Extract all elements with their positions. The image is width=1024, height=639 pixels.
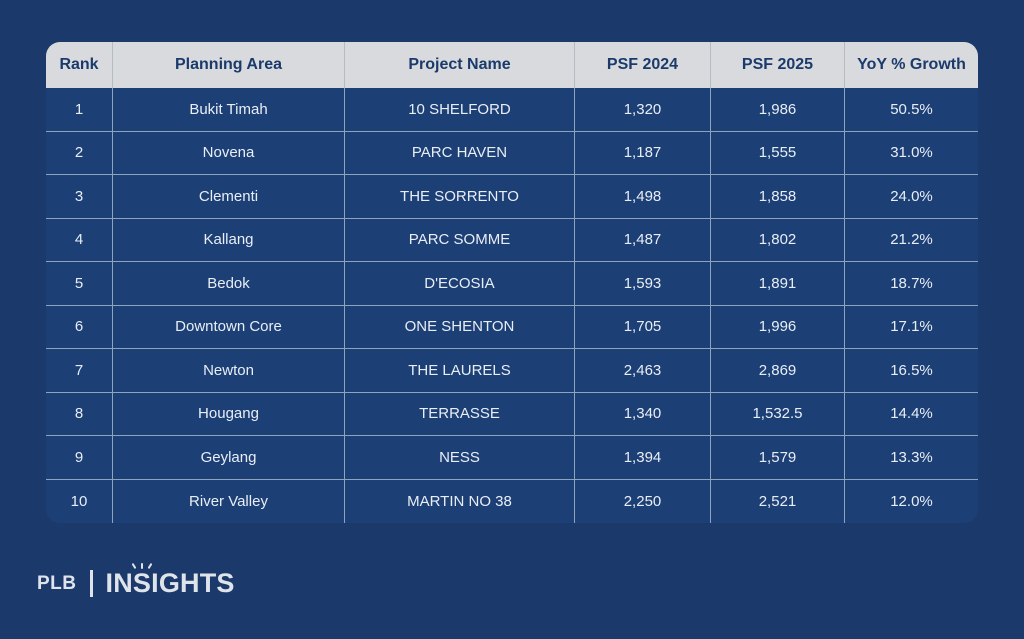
cell-psf25: 1,986: [711, 88, 845, 132]
cell-psf25: 1,996: [711, 306, 845, 350]
cell-area: Geylang: [113, 436, 345, 480]
cell-yoy: 14.4%: [845, 393, 978, 437]
table-row[interactable]: 6Downtown CoreONE SHENTON1,7051,99617.1%: [46, 306, 978, 350]
cell-yoy: 24.0%: [845, 175, 978, 219]
cell-area: Novena: [113, 132, 345, 176]
cell-proj: PARC HAVEN: [345, 132, 575, 176]
cell-rank: 9: [46, 436, 113, 480]
cell-psf25: 1,532.5: [711, 393, 845, 437]
cell-psf24: 1,340: [575, 393, 711, 437]
cell-proj: THE LAURELS: [345, 349, 575, 393]
cell-psf25: 2,521: [711, 480, 845, 524]
cell-psf25: 2,869: [711, 349, 845, 393]
column-header-yoy-growth[interactable]: YoY % Growth: [845, 42, 978, 88]
column-header-rank[interactable]: Rank: [46, 42, 113, 88]
rankings-table: Rank Planning Area Project Name PSF 2024…: [46, 42, 978, 523]
cell-rank: 2: [46, 132, 113, 176]
cell-proj: MARTIN NO 38: [345, 480, 575, 524]
cell-proj: D'ECOSIA: [345, 262, 575, 306]
brand-insights-bulb-letter: S: [133, 568, 151, 598]
cell-psf24: 2,463: [575, 349, 711, 393]
cell-rank: 5: [46, 262, 113, 306]
cell-psf24: 1,593: [575, 262, 711, 306]
brand-insights-part-1: IN: [106, 568, 133, 599]
brand-insights-label: IN S IGHTS: [106, 568, 235, 599]
column-header-planning-area[interactable]: Planning Area: [113, 42, 345, 88]
cell-psf24: 1,320: [575, 88, 711, 132]
column-header-psf-2025[interactable]: PSF 2025: [711, 42, 845, 88]
table-row[interactable]: 3ClementiTHE SORRENTO1,4981,85824.0%: [46, 175, 978, 219]
cell-psf24: 2,250: [575, 480, 711, 524]
cell-rank: 4: [46, 219, 113, 263]
cell-proj: TERRASSE: [345, 393, 575, 437]
table-header: Rank Planning Area Project Name PSF 2024…: [46, 42, 978, 88]
cell-area: Bedok: [113, 262, 345, 306]
cell-proj: 10 SHELFORD: [345, 88, 575, 132]
cell-proj: THE SORRENTO: [345, 175, 575, 219]
cell-area: Newton: [113, 349, 345, 393]
cell-psf25: 1,891: [711, 262, 845, 306]
table-row[interactable]: 9GeylangNESS1,3941,57913.3%: [46, 436, 978, 480]
cell-psf25: 1,579: [711, 436, 845, 480]
cell-area: Kallang: [113, 219, 345, 263]
brand-divider: [90, 570, 93, 597]
table-header-row: Rank Planning Area Project Name PSF 2024…: [46, 42, 978, 88]
cell-yoy: 18.7%: [845, 262, 978, 306]
cell-proj: NESS: [345, 436, 575, 480]
cell-yoy: 50.5%: [845, 88, 978, 132]
table-row[interactable]: 2NovenaPARC HAVEN1,1871,55531.0%: [46, 132, 978, 176]
table-row[interactable]: 4KallangPARC SOMME1,4871,80221.2%: [46, 219, 978, 263]
cell-psf25: 1,858: [711, 175, 845, 219]
cell-yoy: 12.0%: [845, 480, 978, 524]
table-row[interactable]: 8HougangTERRASSE1,3401,532.514.4%: [46, 393, 978, 437]
cell-rank: 7: [46, 349, 113, 393]
cell-rank: 3: [46, 175, 113, 219]
table-body: 1Bukit Timah10 SHELFORD1,3201,98650.5%2N…: [46, 88, 978, 523]
table-row[interactable]: 5BedokD'ECOSIA1,5931,89118.7%: [46, 262, 978, 306]
cell-area: Hougang: [113, 393, 345, 437]
cell-yoy: 16.5%: [845, 349, 978, 393]
cell-area: Downtown Core: [113, 306, 345, 350]
table-row[interactable]: 7NewtonTHE LAURELS2,4632,86916.5%: [46, 349, 978, 393]
cell-rank: 10: [46, 480, 113, 524]
lightbulb-rays: [132, 559, 152, 569]
cell-area: River Valley: [113, 480, 345, 524]
brand-plb-label: PLB: [37, 573, 77, 595]
cell-area: Clementi: [113, 175, 345, 219]
cell-psf25: 1,802: [711, 219, 845, 263]
brand-insights-part-2: IGHTS: [151, 568, 235, 599]
cell-rank: 8: [46, 393, 113, 437]
cell-proj: ONE SHENTON: [345, 306, 575, 350]
table-row[interactable]: 1Bukit Timah10 SHELFORD1,3201,98650.5%: [46, 88, 978, 132]
cell-yoy: 31.0%: [845, 132, 978, 176]
cell-psf24: 1,705: [575, 306, 711, 350]
cell-psf24: 1,487: [575, 219, 711, 263]
cell-psf24: 1,498: [575, 175, 711, 219]
cell-psf24: 1,394: [575, 436, 711, 480]
cell-proj: PARC SOMME: [345, 219, 575, 263]
cell-psf25: 1,555: [711, 132, 845, 176]
column-header-psf-2024[interactable]: PSF 2024: [575, 42, 711, 88]
cell-rank: 1: [46, 88, 113, 132]
footer-brand: PLB IN S IGHTS: [37, 568, 235, 599]
cell-yoy: 17.1%: [845, 306, 978, 350]
column-header-project-name[interactable]: Project Name: [345, 42, 575, 88]
cell-area: Bukit Timah: [113, 88, 345, 132]
cell-yoy: 21.2%: [845, 219, 978, 263]
table-row[interactable]: 10River ValleyMARTIN NO 382,2502,52112.0…: [46, 480, 978, 524]
cell-psf24: 1,187: [575, 132, 711, 176]
cell-rank: 6: [46, 306, 113, 350]
cell-yoy: 13.3%: [845, 436, 978, 480]
lightbulb-icon: S: [133, 568, 151, 599]
